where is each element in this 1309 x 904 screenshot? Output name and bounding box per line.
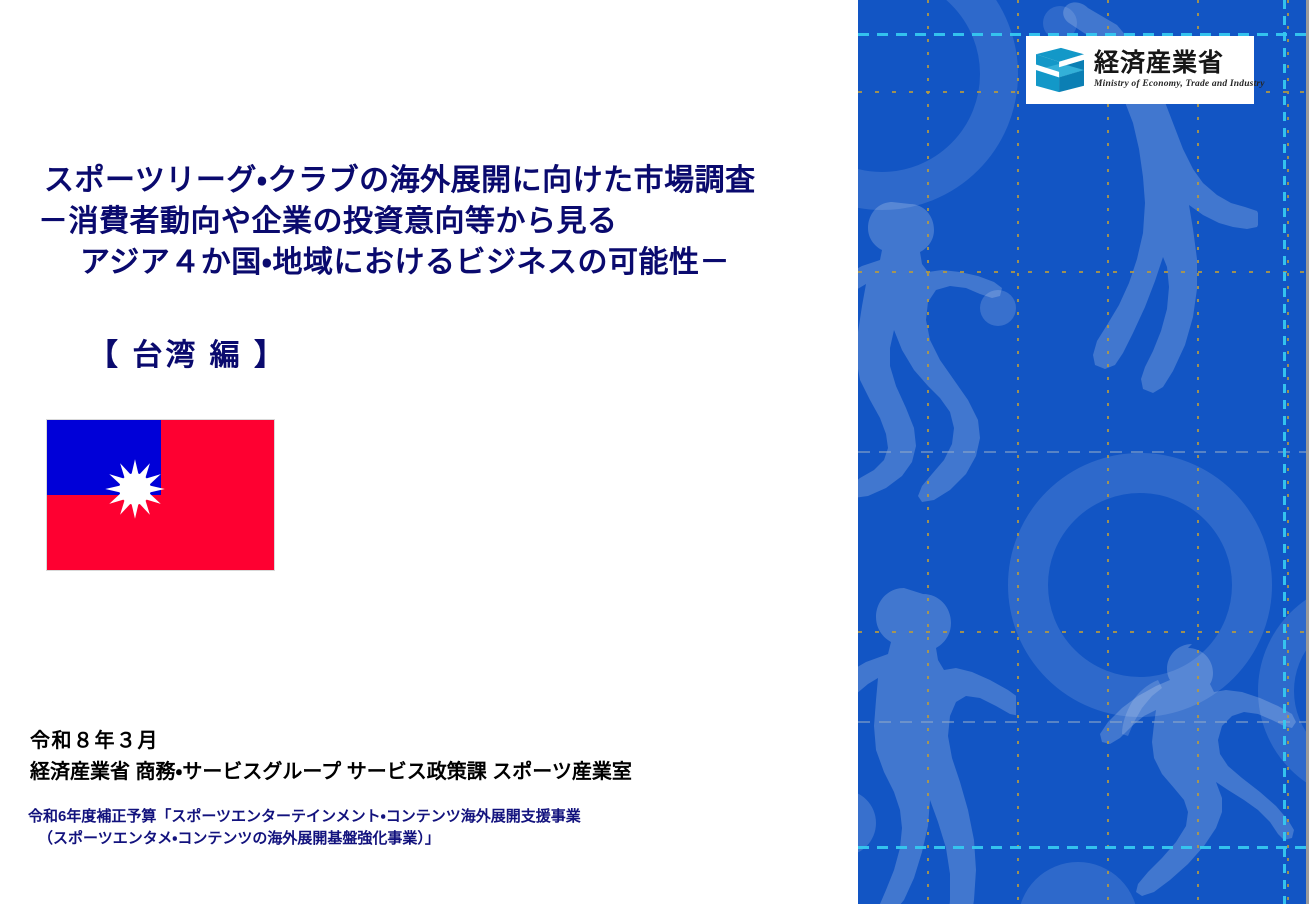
fineprint-line-2: （スポーツエンタメ・コンテンツの海外展開基盤強化事業）」 [28,828,818,850]
basketball-player-silhouette [858,580,1016,904]
meti-logo: 経済産業省 Ministry of Economy, Trade and Ind… [1026,36,1254,104]
sports-graphic-panel [858,0,1309,904]
white-sun-twelve-rays-icon [104,458,166,520]
ring-top-left-shape [858,0,1018,210]
basketball-dribbler-silhouette [858,190,1024,610]
meti-name-japanese: 経済産業省 [1094,50,1265,78]
title-line-3: アジア４か国・地域におけるビジネスの可能性－ [44,242,804,283]
taiwan-flag [46,419,275,571]
title-line-2: －消費者動向や企業の投資意向等から見る [44,201,804,242]
page-title: スポーツリーグ・クラブの海外展開に向けた市場調査 －消費者動向や企業の投資意向等… [44,160,804,283]
fineprint-line-1: 令和6年度補正予算「スポーツエンターテインメント・コンテンツ海外展開支援事業 [28,806,818,828]
title-line-1: スポーツリーグ・クラブの海外展開に向けた市場調査 [44,160,804,201]
publication-date: 令和８年３月 [30,726,830,756]
budget-fineprint: 令和6年度補正予算「スポーツエンターテインメント・コンテンツ海外展開支援事業 （… [28,806,818,850]
cover-page: スポーツリーグ・クラブの海外展開に向けた市場調査 －消費者動向や企業の投資意向等… [0,0,1309,904]
basketball-ball-upper-shape [980,290,1016,326]
grid-grey-horizontal-1 [858,451,1306,453]
grid-grey-horizontal-2 [858,721,1306,723]
female-runner-silhouette [1096,640,1306,904]
meti-name-english: Ministry of Economy, Trade and Industry [1094,78,1265,90]
grid-cyan-horizontal-2 [858,846,1306,849]
meti-s-mark-icon [1032,46,1088,94]
left-content-pane: スポーツリーグ・クラブの海外展開に向けた市場調査 －消費者動向や企業の投資意向等… [0,0,858,904]
publication-meta: 令和８年３月 経済産業省 商務・サービスグループ サービス政策課 スポーツ産業室 [30,726,830,788]
grid-gold-horizontal-2 [858,271,1306,273]
edition-label: 【 台湾 編 】 [88,330,287,374]
meti-wordmark: 経済産業省 Ministry of Economy, Trade and Ind… [1094,50,1265,90]
grid-gold-horizontal-3 [858,631,1306,633]
flag-field [46,419,275,571]
publishing-organization: 経済産業省 商務・サービスグループ サービス政策課 スポーツ産業室 [30,756,830,788]
grid-cyan-vertical [1283,0,1286,904]
